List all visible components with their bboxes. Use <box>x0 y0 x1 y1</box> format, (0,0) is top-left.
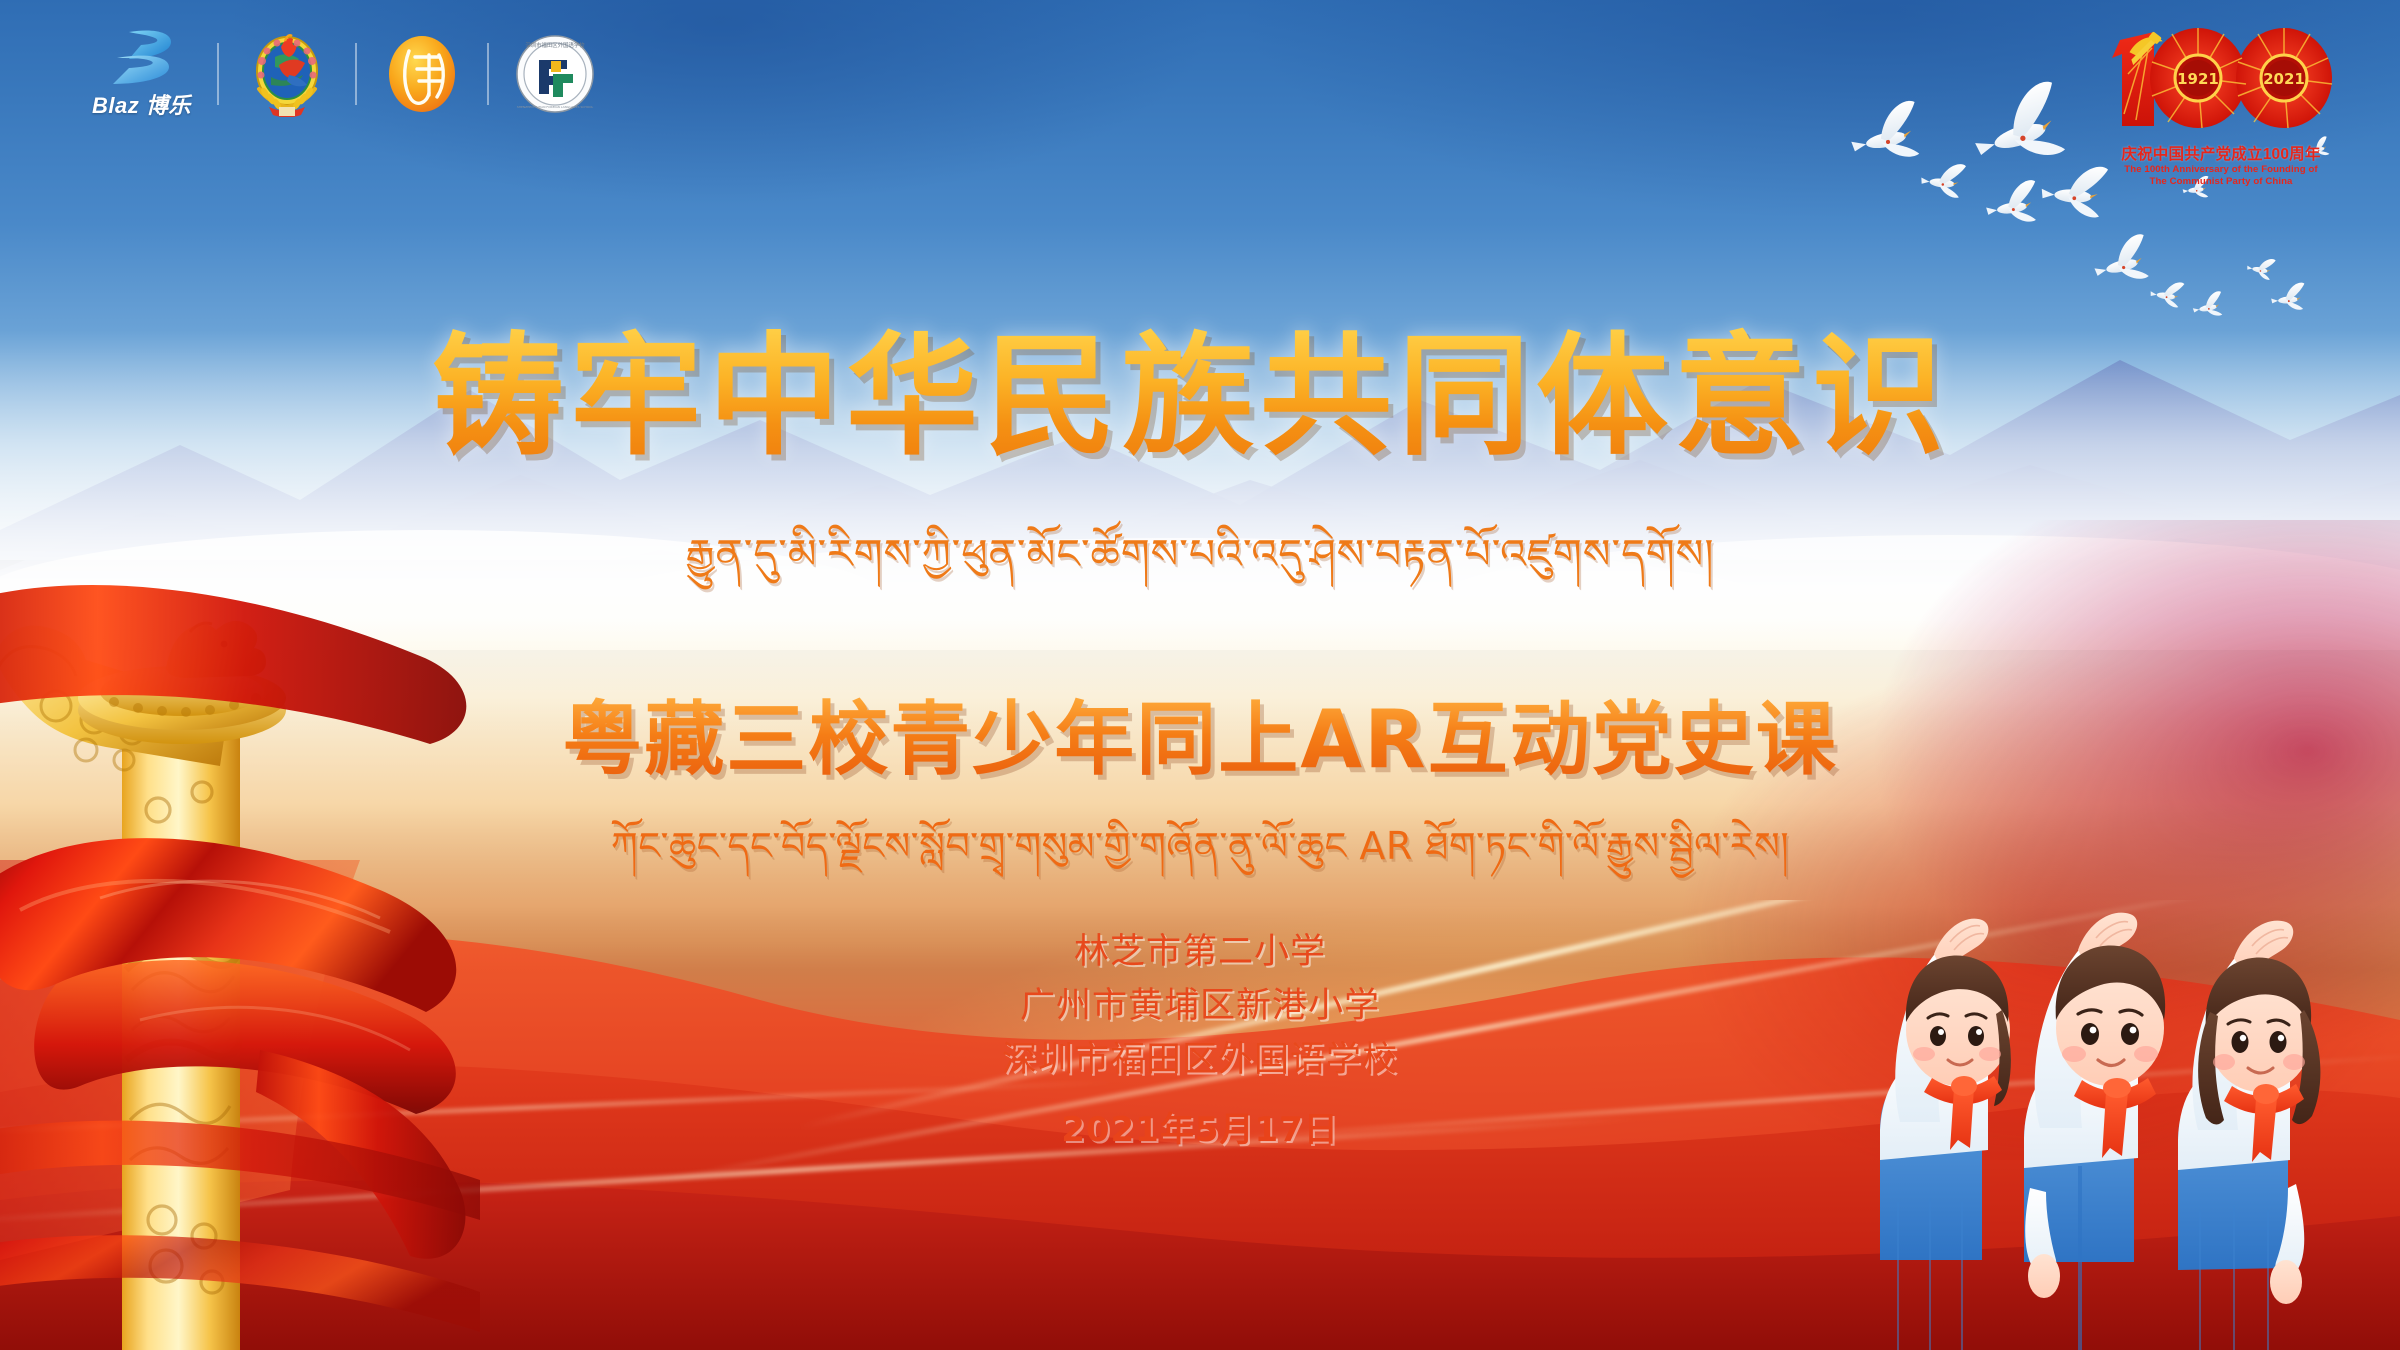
xingang-primary-school-icon <box>383 33 461 115</box>
partner-logo-bar: Blaz 博乐 <box>66 26 621 122</box>
logo-xingang-school[interactable] <box>357 26 487 122</box>
logo-national-emblem[interactable] <box>219 26 355 122</box>
blaz-wordmark: Blaz 博乐 <box>92 88 191 120</box>
cpc-caption-cn: 庆祝中国共产党成立100周年 <box>2106 142 2336 164</box>
blaz-icon <box>107 28 175 86</box>
svg-text:SHENZHEN FUTIAN FOREIGN LANGUA: SHENZHEN FUTIAN FOREIGN LANGUAGES SCHOOL <box>517 105 594 109</box>
cpc-caption-en-line1: The 100th Anniversary of the Founding of <box>2106 164 2336 176</box>
logo-futian-school[interactable]: 深圳市福田区外国语学校 SHENZHEN FUTIAN FOREIGN LANG… <box>489 26 621 122</box>
cpc-100-mark-icon: 1921 2021 <box>2106 14 2336 142</box>
futian-foreign-language-school-icon: 深圳市福田区外国语学校 SHENZHEN FUTIAN FOREIGN LANG… <box>515 34 595 114</box>
red-silk-ribbon <box>0 580 480 1350</box>
cpc-caption-en-line2: The Communist Party of China <box>2106 176 2336 188</box>
national-emblem-icon <box>245 31 329 117</box>
svg-text:深圳市福田区外国语学校: 深圳市福田区外国语学校 <box>525 41 585 49</box>
logo-blaz[interactable]: Blaz 博乐 <box>66 26 217 122</box>
poster-canvas: Blaz 博乐 <box>0 0 2400 1350</box>
cpc-100th-anniversary-logo[interactable]: 1921 2021 庆祝中国共产党成立100周年 The 100th Anniv… <box>2106 14 2336 224</box>
cpc-year-start: 1921 <box>2177 70 2219 88</box>
cpc-year-end: 2021 <box>2263 70 2305 88</box>
three-saluting-young-pioneers <box>1870 830 2400 1350</box>
cpc-caption-en: The 100th Anniversary of the Founding of… <box>2106 164 2336 187</box>
